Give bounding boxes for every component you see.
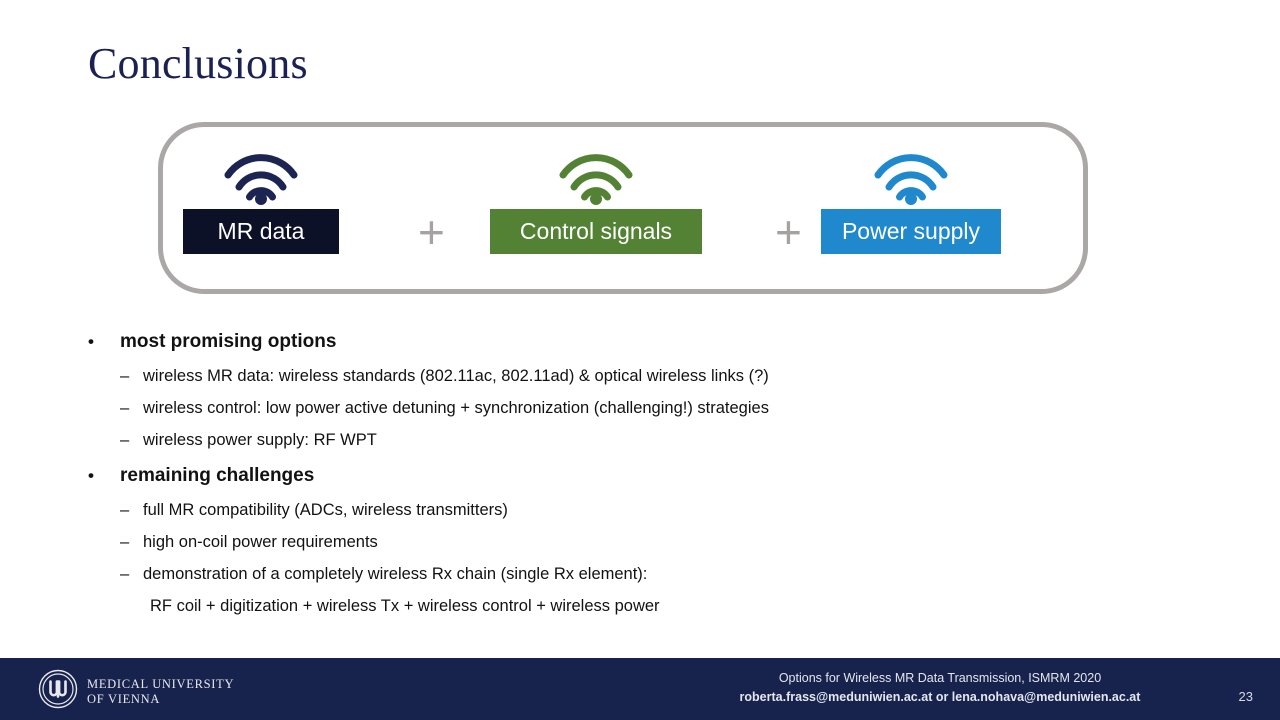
- page-number: 23: [1239, 689, 1253, 705]
- sub-bullet-marker: –: [88, 424, 143, 456]
- sub-bullet-text: wireless MR data: wireless standards (80…: [143, 360, 1198, 392]
- sub-bullet-text: wireless power supply: RF WPT: [143, 424, 1198, 456]
- university-logo: MEDICAL UNIVERSITY OF VIENNA: [38, 669, 234, 714]
- bullet-marker: •: [88, 328, 120, 356]
- page-title: Conclusions: [88, 38, 308, 90]
- sub-bullet-marker: –: [88, 558, 143, 590]
- university-logo-line1: MEDICAL UNIVERSITY: [87, 677, 234, 692]
- sub-bullet-marker: –: [88, 360, 143, 392]
- diagram-node-mr-data[interactable]: MR data: [183, 149, 339, 254]
- university-logo-line2: OF VIENNA: [87, 692, 234, 707]
- sub-bullet-marker: –: [88, 494, 143, 526]
- bullet-heading: • remaining challenges: [88, 462, 1198, 490]
- footer-center-text: Options for Wireless MR Data Transmissio…: [640, 669, 1240, 707]
- sub-bullet-item: – full MR compatibility (ADCs, wireless …: [88, 494, 1198, 526]
- footer-contact-emails: roberta.frass@meduniwien.ac.at or lena.n…: [640, 688, 1240, 707]
- footer-bar: MEDICAL UNIVERSITY OF VIENNA Options for…: [0, 658, 1280, 720]
- wifi-icon: [222, 149, 300, 205]
- diagram-node-label: MR data: [183, 209, 339, 254]
- sub-bullet-item: – demonstration of a completely wireless…: [88, 558, 1198, 590]
- footer-presentation-title: Options for Wireless MR Data Transmissio…: [640, 669, 1240, 688]
- diagram-node-label: Control signals: [490, 209, 702, 254]
- diagram-node-control-signals[interactable]: Control signals: [490, 149, 702, 254]
- sub-bullet-marker: –: [88, 392, 143, 424]
- wireless-concept-diagram: MR data + Control signals +: [158, 122, 1088, 294]
- bullet-heading-text: remaining challenges: [120, 462, 1198, 490]
- plus-icon-2: +: [775, 209, 802, 255]
- sub-bullet-continuation: RF coil + digitization + wireless Tx + w…: [88, 590, 1198, 622]
- diagram-node-label: Power supply: [821, 209, 1001, 254]
- bullet-heading-text: most promising options: [120, 328, 1198, 356]
- sub-bullet-item: – wireless power supply: RF WPT: [88, 424, 1198, 456]
- sub-bullet-text: demonstration of a completely wireless R…: [143, 558, 1198, 590]
- bullet-heading: • most promising options: [88, 328, 1198, 356]
- wifi-icon: [557, 149, 635, 205]
- bullet-content: • most promising options – wireless MR d…: [88, 328, 1198, 622]
- sub-bullet-marker: –: [88, 526, 143, 558]
- sub-bullet-text: high on-coil power requirements: [143, 526, 1198, 558]
- plus-icon-1: +: [418, 209, 445, 255]
- sub-bullet-text: full MR compatibility (ADCs, wireless tr…: [143, 494, 1198, 526]
- sub-bullet-item: – wireless control: low power active det…: [88, 392, 1198, 424]
- university-emblem-icon: [38, 669, 78, 714]
- diagram-node-power-supply[interactable]: Power supply: [821, 149, 1001, 254]
- university-logo-text: MEDICAL UNIVERSITY OF VIENNA: [87, 677, 234, 707]
- bullet-marker: •: [88, 462, 120, 490]
- wifi-icon: [872, 149, 950, 205]
- sub-bullet-item: – high on-coil power requirements: [88, 526, 1198, 558]
- sub-bullet-text: wireless control: low power active detun…: [143, 392, 1198, 424]
- sub-bullet-item: – wireless MR data: wireless standards (…: [88, 360, 1198, 392]
